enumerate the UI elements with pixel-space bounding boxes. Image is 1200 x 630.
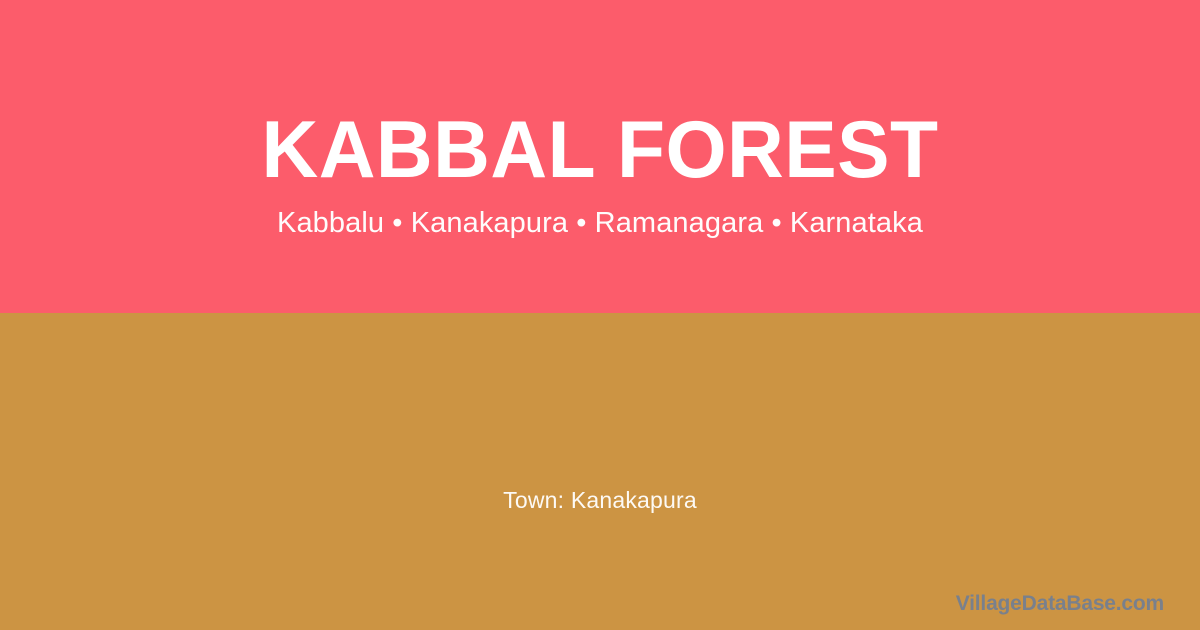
place-banner-card: KABBAL FOREST Kabbalu • Kanakapura • Ram… bbox=[0, 0, 1200, 630]
hero-band: KABBAL FOREST Kabbalu • Kanakapura • Ram… bbox=[0, 0, 1200, 313]
hero-content: KABBAL FOREST Kabbalu • Kanakapura • Ram… bbox=[0, 0, 1200, 240]
body-band: Town: Kanakapura VillageDataBase.com bbox=[0, 313, 1200, 630]
page-title: KABBAL FOREST bbox=[261, 108, 938, 192]
detail-item-town: Town: Kanakapura bbox=[503, 486, 697, 514]
site-watermark: VillageDataBase.com bbox=[956, 592, 1164, 616]
breadcrumb: Kabbalu • Kanakapura • Ramanagara • Karn… bbox=[277, 206, 923, 240]
detail-list: Town: Kanakapura bbox=[0, 486, 1200, 514]
